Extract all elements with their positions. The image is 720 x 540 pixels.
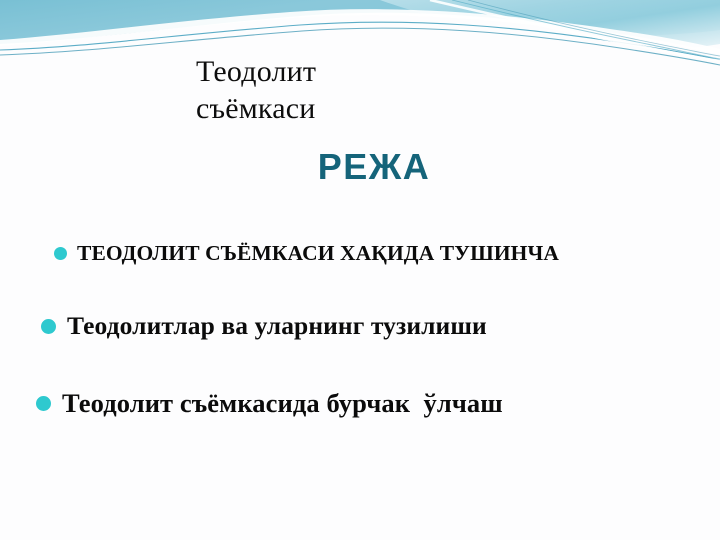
bullet-dot-icon	[36, 396, 51, 411]
title-line-1: Теодолит	[196, 53, 616, 90]
list-item: Теодолитлар ва уларнинг тузилиши	[0, 284, 720, 368]
slide-canvas: Теодолит съёмкаси РЕЖА ТЕОДОЛИТ СЪЁМКАСИ…	[0, 0, 720, 540]
bullet-dot-icon	[54, 247, 67, 260]
wave-white-arc	[0, 9, 720, 55]
wave-band-upper-right	[380, 0, 720, 50]
bullet-dot-icon	[41, 319, 56, 334]
wave-strand-white	[430, 0, 720, 61]
plan-heading: РЕЖА	[0, 146, 720, 188]
list-item: Теодолит съёмкасида бурчак ўлчаш	[0, 368, 720, 438]
slide-title: Теодолит съёмкаси	[196, 53, 616, 127]
agenda-list: ТЕОДОЛИТ СЪЁМКАСИ ХАҚИДА ТУШИНЧА Теодоли…	[0, 222, 720, 438]
list-item: ТЕОДОЛИТ СЪЁМКАСИ ХАҚИДА ТУШИНЧА	[0, 222, 720, 284]
list-item-label: ТЕОДОЛИТ СЪЁМКАСИ ХАҚИДА ТУШИНЧА	[77, 241, 559, 266]
wave-band-main	[0, 0, 720, 54]
list-item-label: Теодолитлар ва уларнинг тузилиши	[67, 311, 487, 341]
wave-strand-teal	[452, 0, 720, 59]
wave-strand-teal-2	[468, 0, 720, 56]
list-item-label: Теодолит съёмкасида бурчак ўлчаш	[62, 388, 503, 419]
title-line-2: съёмкаси	[196, 90, 616, 127]
